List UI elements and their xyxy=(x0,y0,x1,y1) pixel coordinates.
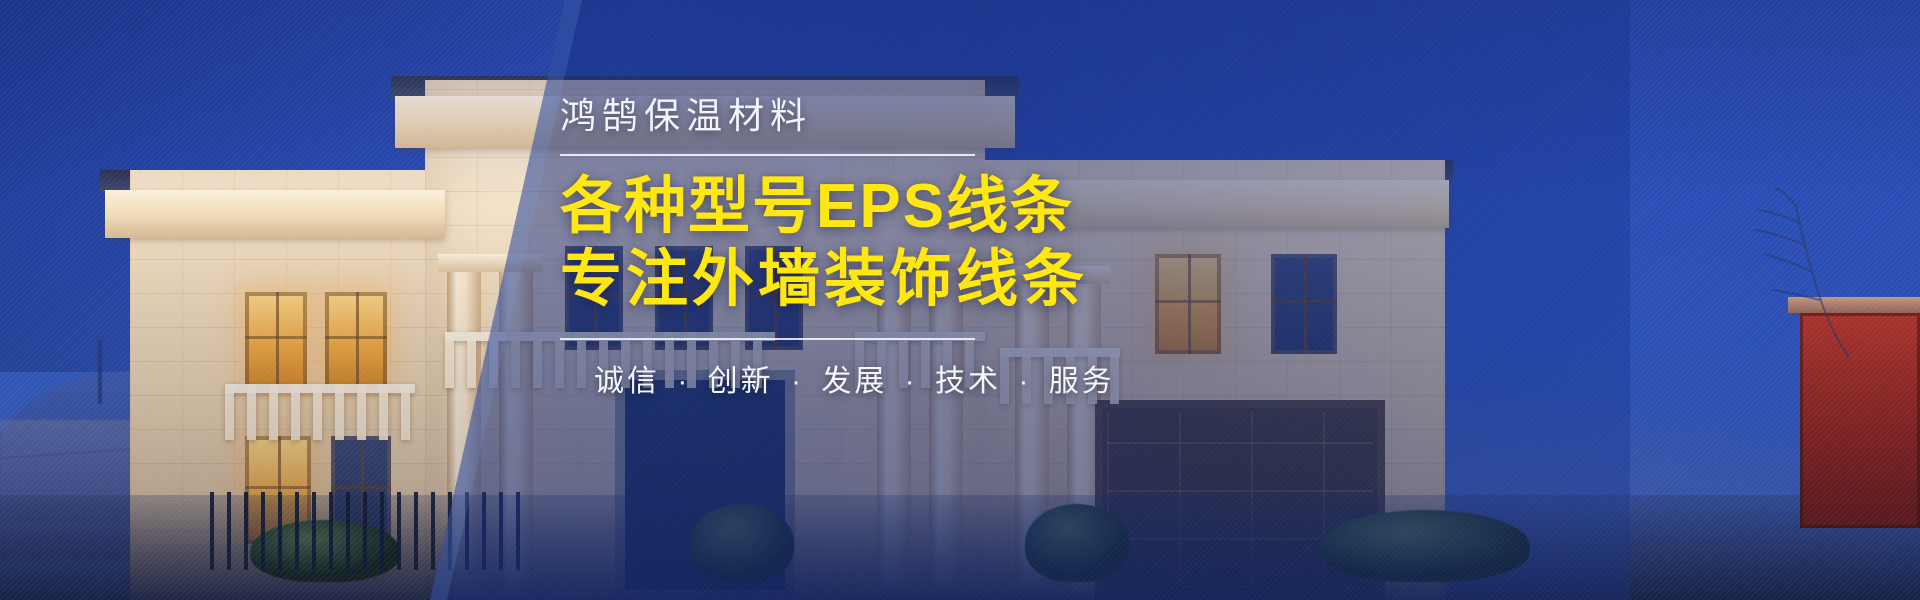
tagline-separator: · xyxy=(887,365,935,398)
copy-block: 鸿鹄保温材料 各种型号EPS线条 专注外墙装饰线条 诚信 · 创新 · 发展 ·… xyxy=(560,96,1460,400)
tagline-word: 服务 xyxy=(1049,365,1115,398)
divider-bottom xyxy=(560,338,975,340)
tagline-word: 发展 xyxy=(821,365,887,398)
hero-banner: 鸿鹄保温材料 各种型号EPS线条 专注外墙装饰线条 诚信 · 创新 · 发展 ·… xyxy=(0,0,1920,600)
headline: 各种型号EPS线条 专注外墙装饰线条 xyxy=(560,170,1460,316)
tagline-word: 技术 xyxy=(935,365,1001,398)
divider-top xyxy=(560,154,975,156)
tagline-separator: · xyxy=(774,365,822,398)
tagline-separator: · xyxy=(1001,365,1049,398)
tagline-word: 诚信 xyxy=(594,365,660,398)
tagline: 诚信 · 创新 · 发展 · 技术 · 服务 xyxy=(560,356,1460,400)
tagline-separator: · xyxy=(660,365,708,398)
headline-line-1: 各种型号EPS线条 xyxy=(560,170,1460,243)
headline-line-2: 专注外墙装饰线条 xyxy=(560,243,1460,316)
brand-name: 鸿鹄保温材料 xyxy=(560,96,1460,136)
tagline-word: 创新 xyxy=(708,365,774,398)
